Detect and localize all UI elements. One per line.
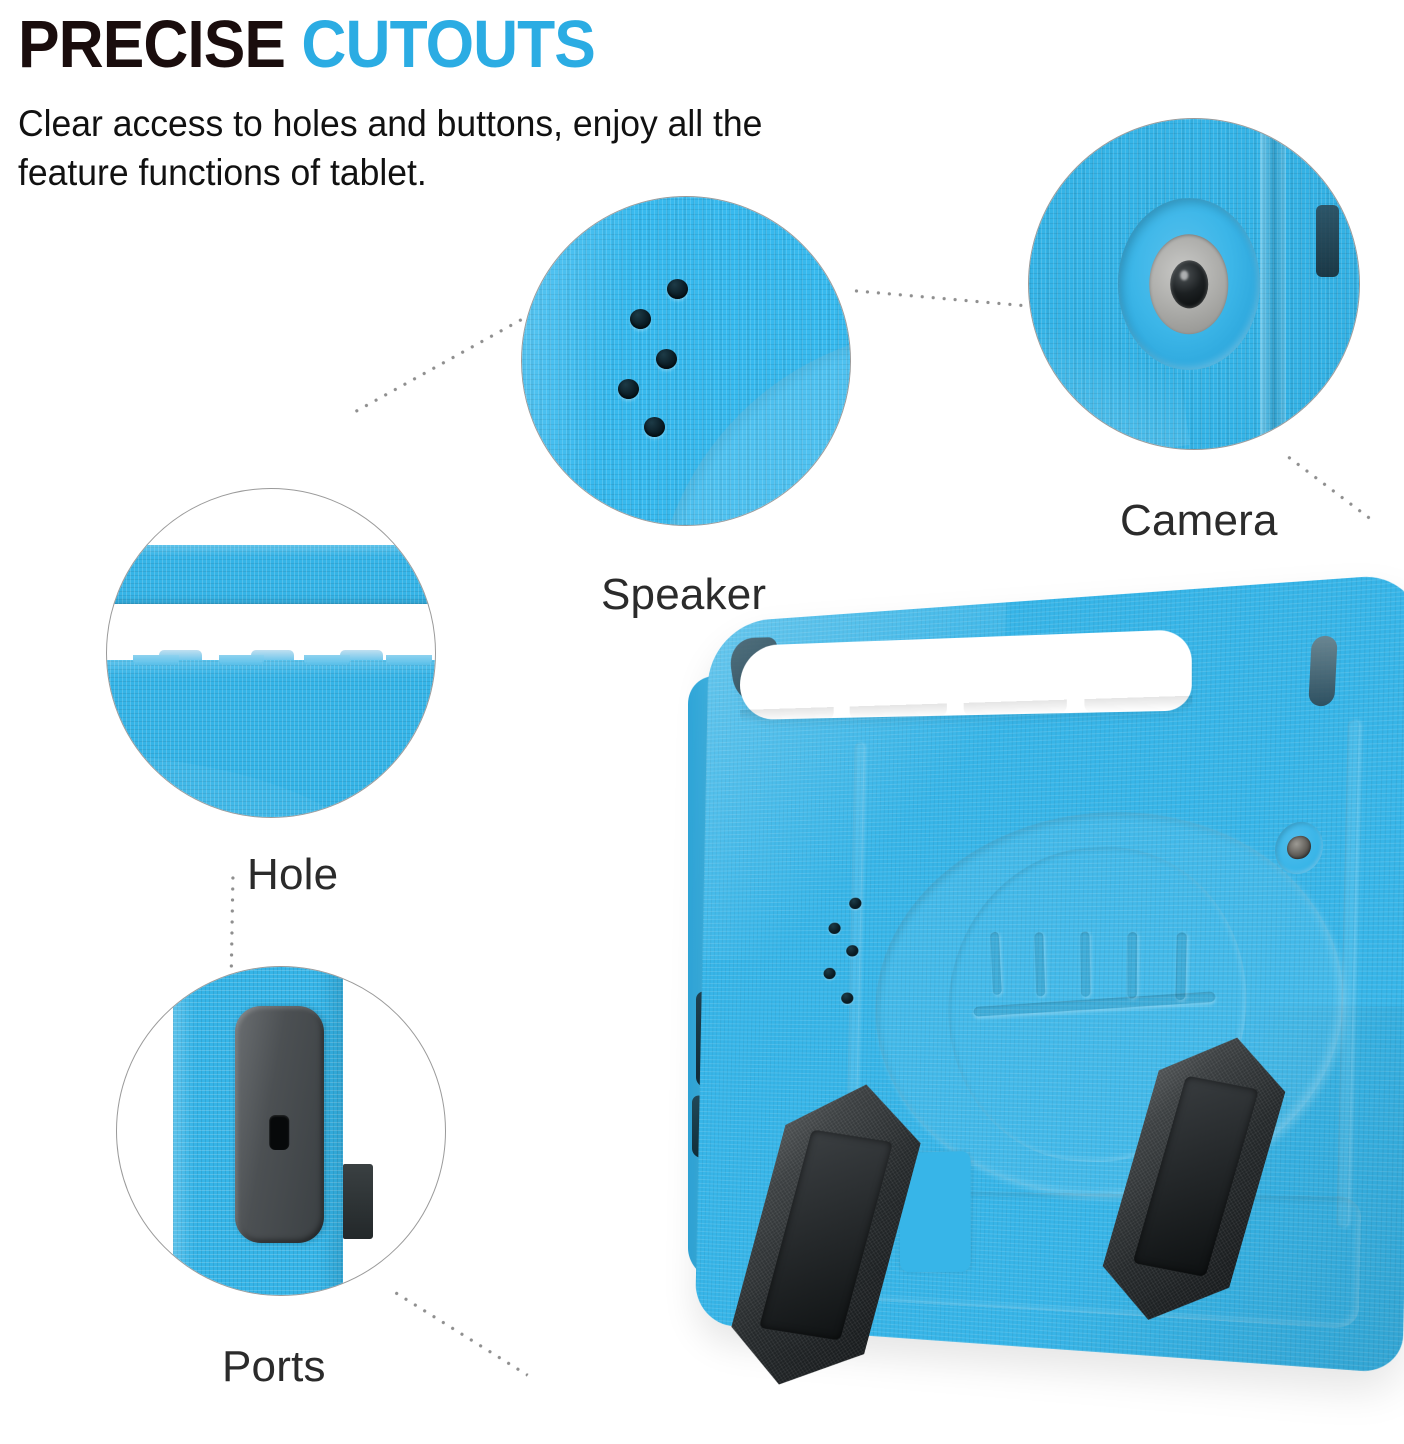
callout-circle-speaker [521,196,851,526]
speaker-hole [630,309,651,329]
camera-lens [1287,834,1310,860]
usb-port-slot [270,1115,289,1150]
handle-grip-bump [740,707,833,723]
ports-recess [235,1006,324,1242]
speaker-highlight [521,196,647,526]
connector-speaker-to-camera [851,288,1031,309]
speaker-hole [823,968,835,979]
handle-bump-lower [219,655,265,665]
callout-label-camera: Camera [1120,496,1278,546]
camera-ring [1149,234,1228,334]
connector-ports-to-product [391,1288,529,1377]
camera-lens [1170,260,1208,308]
camera-body-seam [1260,119,1286,449]
speaker-hole [644,417,665,437]
camera-recess-well [1118,198,1260,370]
handle-grip-bump [849,703,947,719]
connector-hole-to-ports [229,872,236,978]
callout-circle-ports [116,966,446,1296]
football-lace [1127,932,1137,999]
camera-side-notch [1316,205,1339,278]
handle-bump-lower [133,655,179,665]
callout-label-hole: Hole [247,850,338,900]
page-subtitle-line-2: feature functions of tablet. [18,149,911,198]
handle-bottom-band [106,660,436,818]
ports-side-tab [343,1164,373,1239]
speaker-hole [667,279,688,299]
page-title-accent: CUTOUTS [301,7,595,82]
page-title-primary: PRECISE [18,7,285,82]
handle-top-band [106,545,436,604]
handle-slot-right [1308,635,1338,706]
speaker-hole [618,379,639,399]
page-subtitle: Clear access to holes and buttons, enjoy… [18,100,911,198]
handle-bump-lower [304,655,350,665]
handle-bump-lower [386,655,432,665]
product-image-tablet-case [630,600,1402,1444]
football-lace [1175,932,1186,1000]
football-lace [1080,932,1090,998]
callout-circle-hole [106,488,436,818]
handle-grip-bump [964,700,1067,717]
callout-label-ports: Ports [222,1342,326,1392]
callout-circle-camera [1028,118,1360,450]
handle-grip-bump [1084,696,1192,713]
page-title: PRECISE CUTOUTS [18,6,595,83]
speaker-hole [656,349,677,369]
speaker-hole [828,923,840,934]
connector-camera-to-product [1283,453,1374,523]
page-subtitle-line-1: Clear access to holes and buttons, enjoy… [18,100,911,149]
